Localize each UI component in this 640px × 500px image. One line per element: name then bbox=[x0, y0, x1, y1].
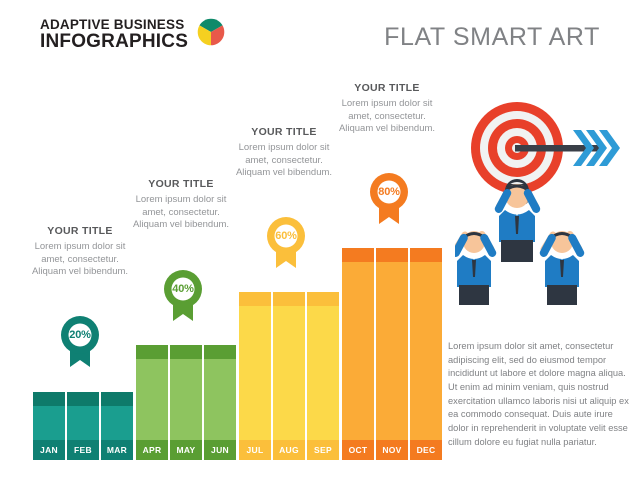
bar-body bbox=[342, 262, 374, 440]
bar-jun[interactable]: JUN bbox=[204, 345, 236, 460]
bar-group-q3: JUL AUG SEP bbox=[239, 292, 339, 460]
bar-cap bbox=[342, 248, 374, 262]
bar-aug[interactable]: AUG bbox=[273, 292, 305, 460]
bar-month-label: JUN bbox=[204, 440, 236, 460]
bar-body bbox=[307, 306, 339, 440]
brand-logo: ADAPTIVE BUSINESS INFOGRAPHICS bbox=[40, 18, 225, 51]
bar-body bbox=[33, 406, 65, 440]
percent-badge-3: 60% bbox=[262, 210, 310, 272]
bar-body bbox=[239, 306, 271, 440]
segment-title-3: YOUR TITLE bbox=[234, 126, 334, 138]
percent-badge-4: 80% bbox=[365, 166, 413, 228]
bar-month-label: APR bbox=[136, 440, 168, 460]
bar-group-q4: OCT NOV DEC bbox=[342, 248, 442, 460]
bar-month-label: NOV bbox=[376, 440, 408, 460]
teamwork-target-illustration bbox=[455, 100, 635, 315]
segment-text-2: YOUR TITLE Lorem ipsum dolor sit amet, c… bbox=[131, 178, 231, 232]
bar-body bbox=[67, 406, 99, 440]
bar-group-q1: JAN FEB MAR bbox=[33, 392, 133, 460]
bar-month-label: SEP bbox=[307, 440, 339, 460]
businessman-right-icon bbox=[538, 230, 585, 305]
segment-body-1: Lorem ipsum dolor sit amet, consectetur.… bbox=[30, 241, 130, 279]
percent-label-4: 80% bbox=[365, 186, 413, 198]
bar-month-label: JAN bbox=[33, 440, 65, 460]
bar-cap bbox=[33, 392, 65, 406]
segment-body-2: Lorem ipsum dolor sit amet, consectetur.… bbox=[131, 194, 231, 232]
bar-cap bbox=[136, 345, 168, 359]
bar-body bbox=[376, 262, 408, 440]
segment-title-1: YOUR TITLE bbox=[30, 225, 130, 237]
body-paragraph: Lorem ipsum dolor sit amet, consectetur … bbox=[448, 340, 636, 449]
businessman-left-icon bbox=[455, 230, 498, 305]
bar-mar[interactable]: MAR bbox=[101, 392, 133, 460]
bar-cap bbox=[273, 292, 305, 306]
bar-month-label: MAY bbox=[170, 440, 202, 460]
bar-cap bbox=[170, 345, 202, 359]
businessman-top-icon bbox=[493, 179, 541, 262]
segment-text-4: YOUR TITLE Lorem ipsum dolor sit amet, c… bbox=[337, 82, 437, 136]
bar-apr[interactable]: APR bbox=[136, 345, 168, 460]
percent-badge-2: 40% bbox=[159, 263, 207, 325]
percent-label-2: 40% bbox=[159, 283, 207, 295]
bar-month-label: JUL bbox=[239, 440, 271, 460]
bar-cap bbox=[410, 248, 442, 262]
segment-text-1: YOUR TITLE Lorem ipsum dolor sit amet, c… bbox=[30, 225, 130, 279]
bar-sep[interactable]: SEP bbox=[307, 292, 339, 460]
segment-body-3: Lorem ipsum dolor sit amet, consectetur.… bbox=[234, 142, 334, 180]
bar-body bbox=[170, 359, 202, 440]
bar-group-q2: APR MAY JUN bbox=[136, 345, 236, 460]
bar-cap bbox=[204, 345, 236, 359]
bar-month-label: MAR bbox=[101, 440, 133, 460]
bar-body bbox=[101, 406, 133, 440]
bar-cap bbox=[67, 392, 99, 406]
bar-body bbox=[273, 306, 305, 440]
bar-body bbox=[204, 359, 236, 440]
logo-line-2: INFOGRAPHICS bbox=[40, 32, 188, 51]
bar-cap bbox=[307, 292, 339, 306]
bar-month-label: DEC bbox=[410, 440, 442, 460]
infographic-canvas: ADAPTIVE BUSINESS INFOGRAPHICS FLAT SMAR… bbox=[0, 0, 640, 500]
segment-title-2: YOUR TITLE bbox=[131, 178, 231, 190]
bar-may[interactable]: MAY bbox=[170, 345, 202, 460]
bar-nov[interactable]: NOV bbox=[376, 248, 408, 460]
percent-label-1: 20% bbox=[56, 329, 104, 341]
bar-cap bbox=[101, 392, 133, 406]
percent-label-3: 60% bbox=[262, 230, 310, 242]
logo-wordmark: ADAPTIVE BUSINESS INFOGRAPHICS bbox=[40, 18, 188, 51]
percent-badge-1: 20% bbox=[56, 309, 104, 371]
bar-dec[interactable]: DEC bbox=[410, 248, 442, 460]
page-title: FLAT SMART ART bbox=[384, 23, 600, 52]
logo-line-1: ADAPTIVE BUSINESS bbox=[40, 18, 188, 32]
bar-body bbox=[410, 262, 442, 440]
bar-oct[interactable]: OCT bbox=[342, 248, 374, 460]
bar-cap bbox=[376, 248, 408, 262]
bar-feb[interactable]: FEB bbox=[67, 392, 99, 460]
bar-jan[interactable]: JAN bbox=[33, 392, 65, 460]
bar-month-label: OCT bbox=[342, 440, 374, 460]
bar-cap bbox=[239, 292, 271, 306]
bar-month-label: AUG bbox=[273, 440, 305, 460]
bar-jul[interactable]: JUL bbox=[239, 292, 271, 460]
segment-text-3: YOUR TITLE Lorem ipsum dolor sit amet, c… bbox=[234, 126, 334, 180]
bar-body bbox=[136, 359, 168, 440]
bar-month-label: FEB bbox=[67, 440, 99, 460]
segment-title-4: YOUR TITLE bbox=[337, 82, 437, 94]
segment-body-4: Lorem ipsum dolor sit amet, consectetur.… bbox=[337, 98, 437, 136]
pie-chart-logo-icon bbox=[197, 18, 225, 51]
